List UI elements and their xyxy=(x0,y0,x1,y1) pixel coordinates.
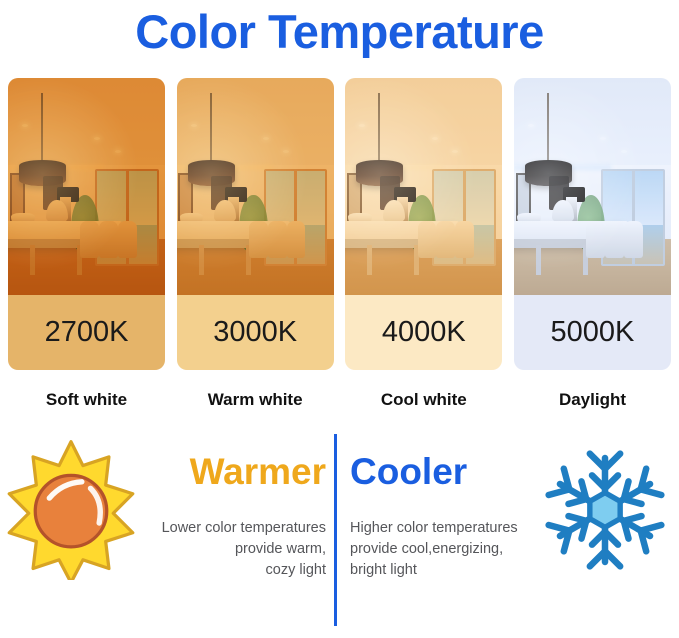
warmer-desc-line-1: Lower color temperatures xyxy=(126,518,326,539)
dining-room-scene xyxy=(8,78,165,295)
kelvin-footer-4000k: 4000K xyxy=(345,295,502,370)
warm-cool-comparison: Warmer Lower color temperatures provide … xyxy=(0,428,679,628)
cooler-desc-line-2: provide cool,energizing, xyxy=(350,539,550,560)
caption-warm-white: Warm white xyxy=(177,388,334,416)
warmer-description: Lower color temperatures provide warm, c… xyxy=(126,518,326,581)
temperature-card-2700k[interactable]: 2700K xyxy=(8,78,165,370)
snowflake-icon xyxy=(540,440,670,580)
room-photo-2700k xyxy=(8,78,165,295)
kelvin-footer-5000k: 5000K xyxy=(514,295,671,370)
kelvin-footer-3000k: 3000K xyxy=(177,295,334,370)
kelvin-value: 2700K xyxy=(45,318,129,347)
warmer-label: Warmer xyxy=(190,450,326,494)
cooler-desc-line-3: bright light xyxy=(350,560,550,581)
room-photo-4000k xyxy=(345,78,502,295)
sun-icon xyxy=(6,440,136,580)
kelvin-value: 5000K xyxy=(551,318,635,347)
caption-cool-white: Cool white xyxy=(345,388,502,416)
temperature-card-4000k[interactable]: 4000K xyxy=(345,78,502,370)
warmer-desc-line-3: cozy light xyxy=(126,560,326,581)
cooler-desc-line-1: Higher color temperatures xyxy=(350,518,550,539)
vertical-divider xyxy=(334,434,337,626)
dining-room-scene xyxy=(177,78,334,295)
warmer-desc-line-2: provide warm, xyxy=(126,539,326,560)
warmer-panel: Warmer Lower color temperatures provide … xyxy=(4,428,334,628)
caption-soft-white: Soft white xyxy=(8,388,165,416)
kelvin-value: 4000K xyxy=(382,318,466,347)
caption-daylight: Daylight xyxy=(514,388,671,416)
dining-room-scene xyxy=(345,78,502,295)
card-caption-row: Soft white Warm white Cool white Dayligh… xyxy=(8,388,671,416)
page-title: Color Temperature xyxy=(0,2,679,62)
cooler-label: Cooler xyxy=(350,450,467,494)
cooler-description: Higher color temperatures provide cool,e… xyxy=(350,518,550,581)
color-temperature-card-strip: 2700K xyxy=(8,78,671,370)
room-photo-5000k xyxy=(514,78,671,295)
temperature-card-3000k[interactable]: 3000K xyxy=(177,78,334,370)
cooler-panel: Cooler Higher color temperatures provide… xyxy=(344,428,674,628)
room-photo-3000k xyxy=(177,78,334,295)
temperature-card-5000k[interactable]: 5000K xyxy=(514,78,671,370)
kelvin-value: 3000K xyxy=(213,318,297,347)
dining-room-scene xyxy=(514,78,671,295)
kelvin-footer-2700k: 2700K xyxy=(8,295,165,370)
